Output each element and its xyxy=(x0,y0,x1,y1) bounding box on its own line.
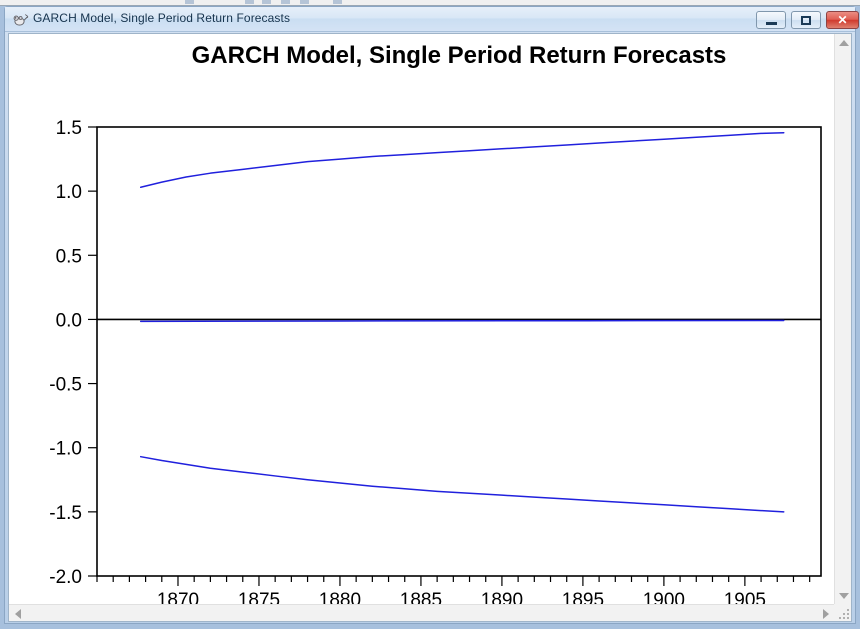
x-axis-tick-label: 1875 xyxy=(238,590,280,604)
series-lower-confidence-band xyxy=(141,457,784,512)
resize-grip[interactable] xyxy=(834,604,851,621)
chevron-left-icon xyxy=(15,609,21,619)
chart-title: GARCH Model, Single Period Return Foreca… xyxy=(192,42,727,69)
window-client-area: GARCH Model, Single Period Return Foreca… xyxy=(8,33,852,622)
scroll-right-button[interactable] xyxy=(817,605,834,622)
y-axis-tick-label: -2.0 xyxy=(49,567,82,588)
y-axis-tick-label: -1.5 xyxy=(49,503,82,524)
chart-window: GARCH Model, Single Period Return Foreca… xyxy=(4,6,856,624)
y-axis-tick-label: 0.0 xyxy=(56,310,82,331)
chevron-up-icon xyxy=(839,40,849,46)
toolbar-button-sliver xyxy=(333,0,342,4)
close-icon: ✕ xyxy=(827,12,858,28)
close-button[interactable]: ✕ xyxy=(826,11,859,29)
scroll-left-button[interactable] xyxy=(9,605,26,622)
plot-frame xyxy=(97,127,821,576)
x-axis-tick-label: 1890 xyxy=(481,590,523,604)
y-axis-tick-label: 1.5 xyxy=(56,118,82,139)
grip-dots-icon xyxy=(840,610,849,619)
x-axis-tick-label: 1900 xyxy=(643,590,685,604)
y-axis-tick-label: -0.5 xyxy=(49,375,82,396)
toolbar-button-sliver xyxy=(281,0,290,4)
x-axis-tick-label: 1880 xyxy=(319,590,361,604)
x-axis-tick-label: 1895 xyxy=(562,590,604,604)
maximize-button[interactable] xyxy=(791,11,821,29)
minimize-icon xyxy=(757,12,785,28)
toolbar-button-sliver xyxy=(300,0,309,4)
y-axis-tick-label: 1.0 xyxy=(56,182,82,203)
x-axis-tick-label: 1905 xyxy=(724,590,766,604)
y-axis-tick-label: 0.5 xyxy=(56,246,82,267)
toolbar-button-sliver xyxy=(245,0,254,4)
window-title-bar[interactable]: GARCH Model, Single Period Return Foreca… xyxy=(5,7,855,32)
scroll-up-button[interactable] xyxy=(835,34,852,51)
toolbar-button-sliver xyxy=(262,0,271,4)
series-upper-confidence-band xyxy=(141,133,784,188)
horizontal-scrollbar[interactable] xyxy=(9,604,834,621)
x-axis-tick-label: 1885 xyxy=(400,590,442,604)
window-title-text: GARCH Model, Single Period Return Foreca… xyxy=(33,11,290,25)
toolbar-button-sliver xyxy=(185,0,194,4)
maximize-icon xyxy=(792,12,820,28)
y-axis-tick-label: -1.0 xyxy=(49,439,82,460)
scroll-down-button[interactable] xyxy=(835,587,852,604)
plot-canvas: GARCH Model, Single Period Return Foreca… xyxy=(9,34,834,604)
x-axis-tick-label: 1870 xyxy=(157,590,199,604)
rats-mouse-icon xyxy=(12,11,29,28)
chevron-down-icon xyxy=(839,593,849,599)
application-root: GARCH Model, Single Period Return Foreca… xyxy=(0,0,860,629)
vertical-scrollbar[interactable] xyxy=(834,34,851,604)
minimize-button[interactable] xyxy=(756,11,786,29)
garch-forecast-chart: GARCH Model, Single Period Return Foreca… xyxy=(9,34,834,604)
series-mean-forecast xyxy=(141,320,784,321)
chevron-right-icon xyxy=(823,609,829,619)
